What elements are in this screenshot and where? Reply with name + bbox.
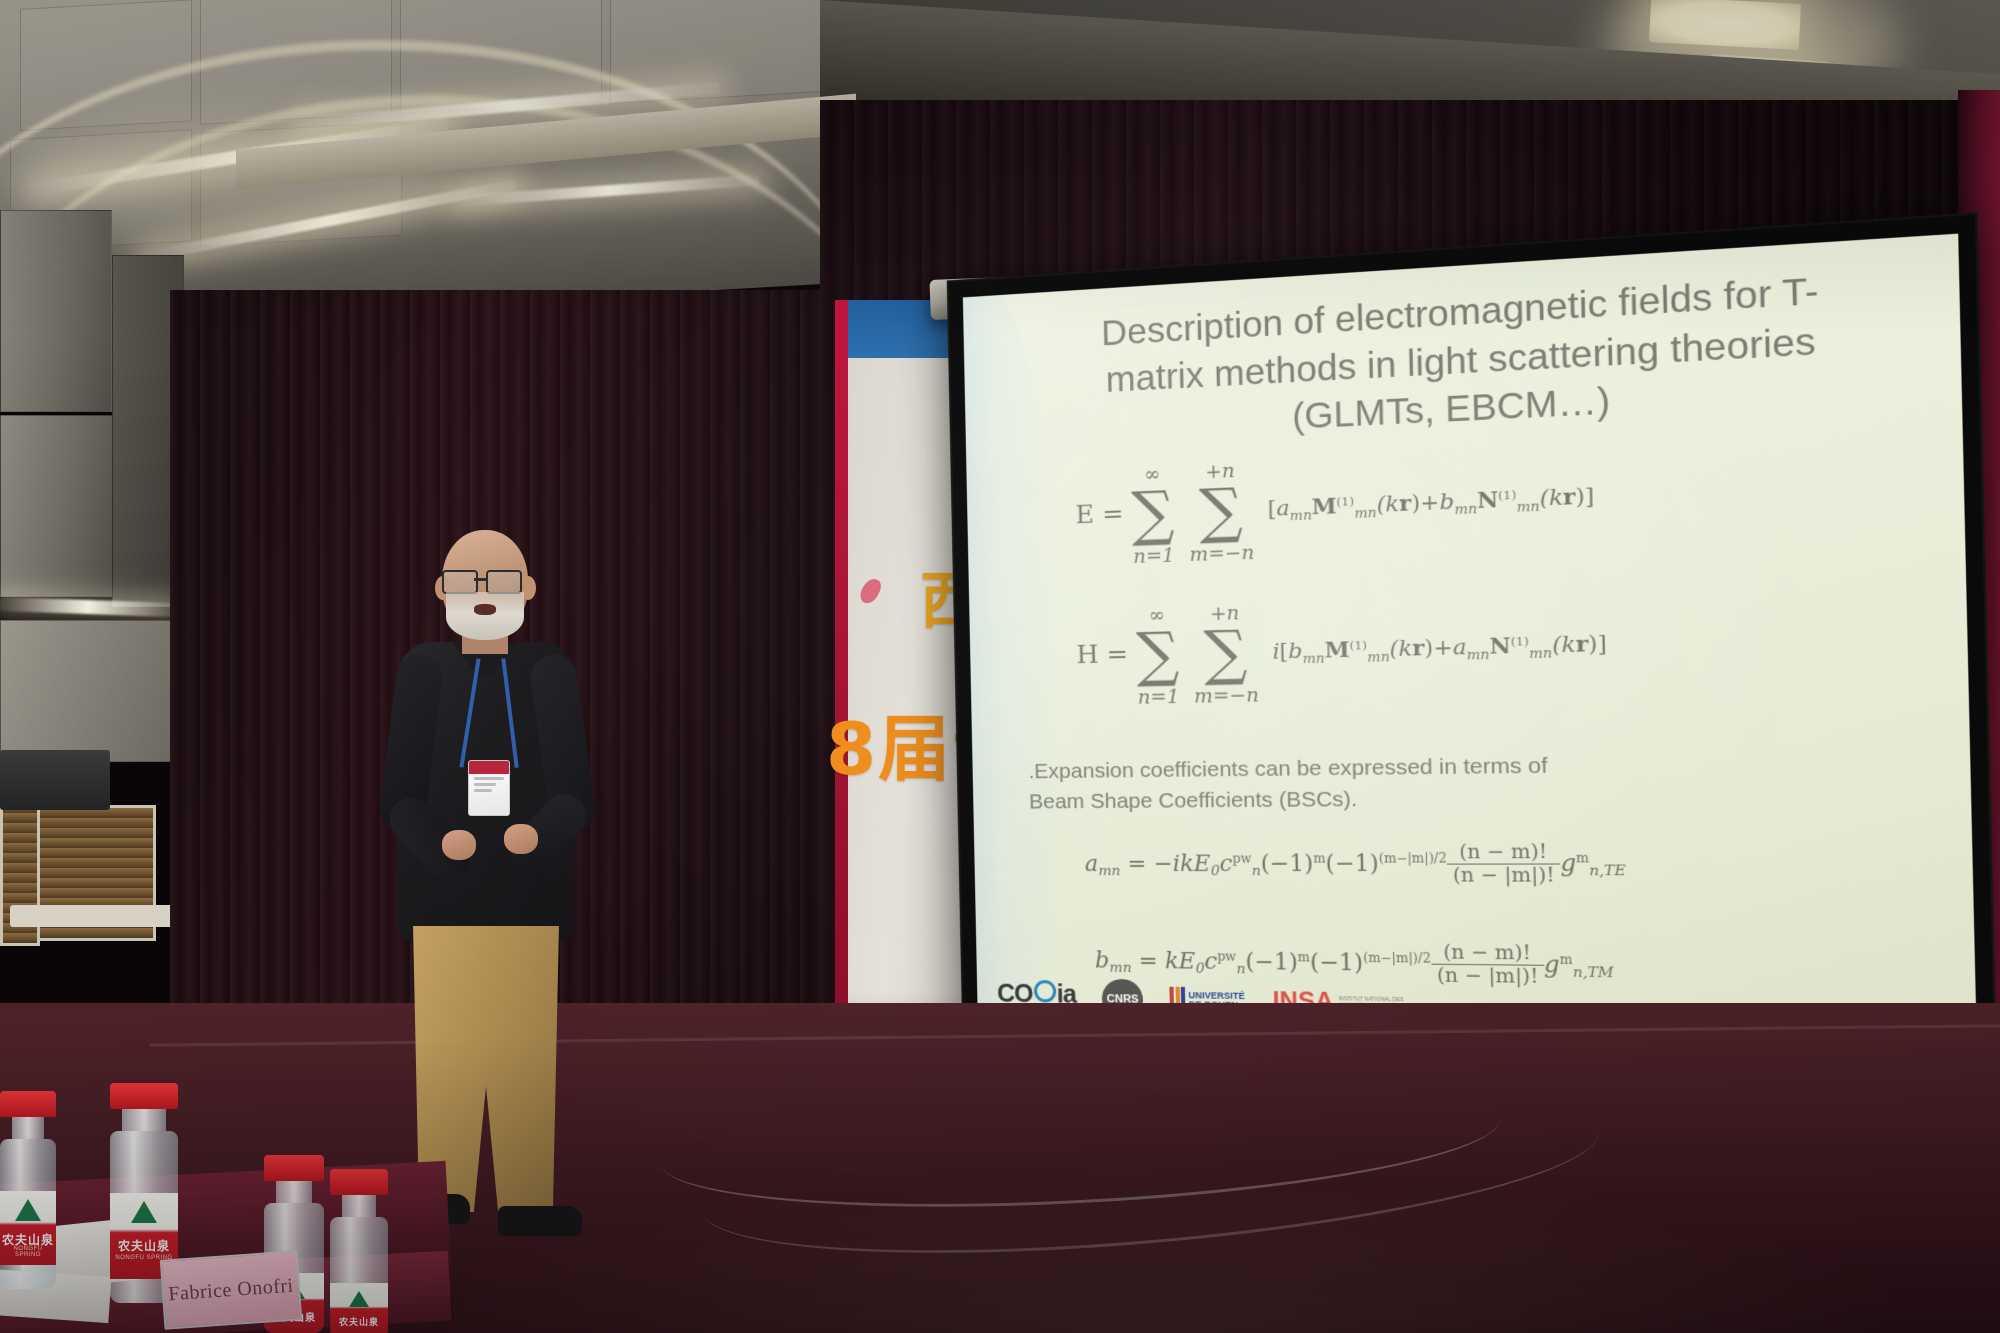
eq-E-plus: + <box>1420 489 1440 515</box>
eq-H-t1-argr: r <box>1412 634 1425 661</box>
presenter-mouth <box>474 604 496 615</box>
eq-E-t1-argr: r <box>1399 489 1412 516</box>
eq-H-t2-fn-sub: mn <box>1529 645 1553 662</box>
eq-a-c-sub: n <box>1251 863 1261 880</box>
eq-H-t1-coef-sub: mn <box>1303 650 1325 666</box>
eq-H-plus: + <box>1433 634 1453 660</box>
presenter-hand-left <box>442 830 476 860</box>
eq-a-g: g <box>1560 850 1576 877</box>
eq-b-c-sub: n <box>1236 961 1246 978</box>
coria-logo-ring-icon <box>1033 980 1056 1003</box>
bottle-cap <box>0 1091 56 1117</box>
eq-a-lhs: a <box>1085 851 1099 876</box>
bottle-body: 农夫山泉 NONGFU SPRING <box>0 1139 56 1289</box>
eq-b-g-sup: m <box>1559 952 1572 967</box>
eq-E-t1-arg: (k <box>1376 491 1399 517</box>
bottle-cap <box>110 1083 178 1109</box>
eq-E-sum1-bottom: n=1 <box>1133 545 1175 569</box>
eq-E-t1-coef: a <box>1276 495 1290 520</box>
eq-H-sum2-bottom: m=−n <box>1194 684 1259 708</box>
eq-b-lhs-sub: mn <box>1109 960 1132 977</box>
banner-red-stripe <box>835 300 848 1020</box>
eq-E-t2-fn-sub: mn <box>1516 498 1539 515</box>
water-bottle: 农夫山泉 <box>330 1169 388 1333</box>
bottle-cap <box>330 1169 388 1195</box>
wall-panel-4 <box>0 620 182 762</box>
eq-H-t2-arg: (k <box>1552 631 1576 657</box>
eq-E-t1-fn: M <box>1311 492 1336 519</box>
presenter-beard <box>446 592 524 640</box>
eq-E-t2-fn: N <box>1477 486 1499 513</box>
eq-E-t2-arg: (k <box>1539 484 1563 511</box>
eq-a-head-sub: 0 <box>1211 863 1220 879</box>
bottle-label: 农夫山泉 <box>330 1283 388 1333</box>
eq-H-t2-coef: a <box>1452 634 1466 660</box>
eq-a-f1-sup: m <box>1313 851 1326 866</box>
eyeglasses-bridge-icon <box>474 578 486 581</box>
presenter-hand-right <box>504 824 538 854</box>
bottle-brand-cn: 农夫山泉 <box>110 1237 178 1254</box>
eq-b-f1: (−1) <box>1245 949 1298 975</box>
eq-H-sum-2: +n ∑ m=−n <box>1203 628 1247 677</box>
wall-panel-2 <box>0 415 114 597</box>
eq-b-f2-sup: (m−|m|)/2 <box>1363 950 1431 965</box>
bottle-neck <box>342 1195 376 1217</box>
slide-body-line-2: Beam Shape Coefficients (BSCs). <box>1029 783 1549 819</box>
eq-a-frac-den: (n − |m|)! <box>1447 865 1561 887</box>
eq-E-sum2-bottom: m=−n <box>1189 542 1254 567</box>
eq-H-t1-fn-sup: (1) <box>1349 637 1367 652</box>
eq-H-t2-coef-sub: mn <box>1466 647 1489 663</box>
eq-E-t2-fn-sup: (1) <box>1498 486 1517 502</box>
mountain-icon <box>15 1199 41 1221</box>
eq-E-sum-2: +n ∑ m=−n <box>1199 486 1243 535</box>
eq-H-sum1-bottom: n=1 <box>1138 686 1180 709</box>
eq-b-g: g <box>1544 951 1560 978</box>
eq-E-sum2-top: +n <box>1205 459 1235 483</box>
eq-a-c: c <box>1219 851 1232 877</box>
eq-E-equals: = <box>1102 498 1124 528</box>
screen-surface: Description of electromagnetic fields fo… <box>963 234 1977 1042</box>
eq-b-frac-num: (n − m)! <box>1431 942 1544 966</box>
speaker-name-card-text: Fabrice Onofri <box>168 1274 295 1306</box>
projection-screen: Description of electromagnetic fields fo… <box>947 212 1998 1108</box>
eq-a-f2: (−1) <box>1325 851 1379 877</box>
conference-photo-scene: 西 8届专 Description of electromagnetic fie… <box>0 0 2000 1333</box>
eq-a-lhs-sub: mn <box>1098 863 1120 879</box>
equation-H: H = ∞ ∑ n=1 +n ∑ m=−n i[bmnM(1)mn(kr)+am… <box>1076 619 1607 680</box>
bottle-label: 农夫山泉 NONGFU SPRING <box>0 1191 56 1265</box>
eq-a-f2-sup: (m−|m|)/2 <box>1379 851 1447 866</box>
eq-H-t2-fn: N <box>1489 632 1511 659</box>
equation-E: E = ∞ ∑ n=1 +n ∑ m=−n [amnM(1)mn(kr)+bmn… <box>1075 471 1595 540</box>
slide-title: Description of electromagnetic fields fo… <box>1023 261 1914 453</box>
eq-a-equals: = <box>1127 851 1146 877</box>
eq-H-sum-1: ∞ ∑ n=1 <box>1136 630 1180 678</box>
eq-H-equals: = <box>1106 638 1128 668</box>
slide-body-line-1: .Expansion coefficients can be expressed… <box>1028 750 1548 787</box>
eq-H-sum2-top: +n <box>1210 602 1240 625</box>
badge-text-line <box>474 783 496 786</box>
slide-body-text: .Expansion coefficients can be expressed… <box>1028 750 1549 818</box>
eq-E-close: ] <box>1585 483 1595 509</box>
conference-badge <box>468 760 510 816</box>
eyeglasses-right-lens-icon <box>486 570 522 594</box>
equation-amn: amn = −ikE0cpwn(−1)m(−1)(m−|m|)/2(n − m)… <box>1084 841 1626 887</box>
eq-H-close: ] <box>1597 630 1607 656</box>
eq-b-f2: (−1) <box>1310 949 1364 976</box>
bottle-neck <box>12 1117 44 1139</box>
eq-H-t2-argr: r <box>1575 630 1588 657</box>
eq-b-c-sup: pw <box>1217 949 1236 964</box>
eq-H-t2-fn-sup: (1) <box>1510 633 1529 648</box>
eq-b-lhs: b <box>1095 948 1110 974</box>
bottle-cap <box>264 1155 324 1181</box>
speaker-name-card: Fabrice Onofri <box>160 1250 303 1329</box>
side-desk <box>0 750 110 810</box>
bottle-neck <box>122 1109 166 1131</box>
presenter-shoe-right <box>498 1206 582 1236</box>
eq-E-t2-coef: b <box>1439 488 1454 514</box>
eq-H-sum1-top: ∞ <box>1148 604 1165 627</box>
bottle-body: 农夫山泉 <box>330 1217 388 1333</box>
eq-E-t1-fn-sub: mn <box>1354 505 1377 522</box>
eq-a-g-sup: m <box>1576 850 1589 865</box>
eq-H-t1-arg: (k <box>1389 635 1412 661</box>
desk-base-trim <box>10 905 180 927</box>
eq-E-t2-coef-sub: mn <box>1454 501 1477 518</box>
bottle-brand-en: NONGFU SPRING <box>0 1246 56 1258</box>
eq-a-f1: (−1) <box>1260 851 1313 877</box>
mountain-icon <box>131 1201 157 1223</box>
eq-b-g-sub: n,TM <box>1573 964 1614 982</box>
eq-E-sum-1: ∞ ∑ n=1 <box>1131 489 1175 538</box>
eq-E-t1-fn-sup: (1) <box>1336 493 1354 508</box>
presenter <box>380 530 640 1230</box>
eq-E-sum1-top: ∞ <box>1144 463 1161 486</box>
badge-text-line <box>474 777 504 780</box>
badge-text-line <box>474 789 492 792</box>
eq-b-head: kE <box>1165 948 1196 974</box>
eq-H-lhs: H <box>1076 639 1099 669</box>
water-bottle: 农夫山泉 NONGFU SPRING <box>0 1091 56 1289</box>
eyeglasses-left-lens-icon <box>442 570 478 594</box>
eq-H-t1-fn: M <box>1324 636 1349 663</box>
eq-a-frac-num: (n − m)! <box>1446 841 1560 865</box>
eq-b-equals: = <box>1138 948 1158 974</box>
mountain-icon <box>349 1291 369 1307</box>
eq-a-fraction: (n − m)!(n − |m|)! <box>1446 841 1560 887</box>
eq-b-f1-sup: m <box>1298 950 1311 965</box>
eq-H-t1-coef: b <box>1288 638 1303 663</box>
wall-panel-1 <box>0 210 112 412</box>
eq-E-lhs: E <box>1075 499 1094 529</box>
eq-H-t1-fn-sub: mn <box>1367 649 1390 665</box>
badge-header-band <box>469 761 509 774</box>
eq-a-g-sub: n,TE <box>1589 863 1626 880</box>
eq-E-t2-argr: r <box>1563 482 1576 509</box>
bottle-brand-cn: 农夫山泉 <box>330 1315 388 1328</box>
eq-b-c: c <box>1204 949 1217 975</box>
eq-a-head: −ikE <box>1153 851 1210 877</box>
eq-E-t1-coef-sub: mn <box>1290 507 1312 523</box>
eq-a-c-sup: pw <box>1232 851 1251 865</box>
bottle-neck <box>276 1181 312 1203</box>
